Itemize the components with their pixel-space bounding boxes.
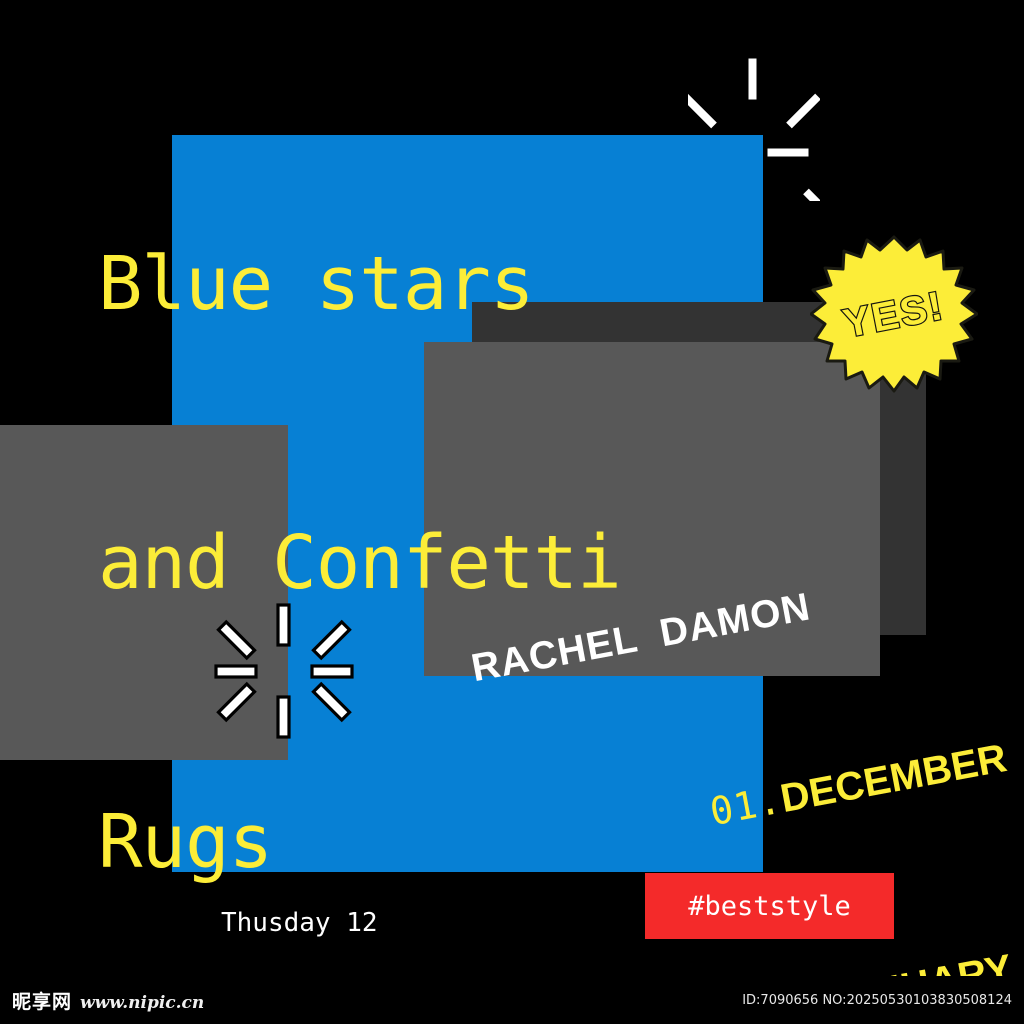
watermark-bar: 昵享网 www.nipic.cn ID:7090656 NO:202505301… — [0, 976, 1024, 1024]
hashtag-label: #beststyle — [688, 891, 851, 922]
sparkle-icon-mid-left — [206, 603, 362, 739]
watermark-id: ID:7090656 NO:20250530103830508124 — [742, 993, 1012, 1008]
poster-canvas: Blue stars and Confetti Rugs YE — [0, 0, 1024, 1024]
schedule-line-1: Thusday 12 — [221, 906, 471, 941]
date-day-1: 01. — [707, 778, 785, 834]
sparkle-icon-top-right — [688, 55, 820, 201]
watermark-logo: 昵享网 — [12, 987, 72, 1014]
watermark-url: www.nipic.cn — [80, 993, 204, 1013]
yes-starburst-badge[interactable]: YES! — [810, 233, 978, 398]
title-line-2: and Confetti — [98, 517, 621, 610]
date-month-1: DECEMBER - — [777, 730, 1024, 821]
watermark-brand: 昵享网 www.nipic.cn — [12, 987, 204, 1014]
hashtag-chip[interactable]: #beststyle — [645, 873, 894, 939]
title-line-1: Blue stars — [98, 238, 621, 331]
